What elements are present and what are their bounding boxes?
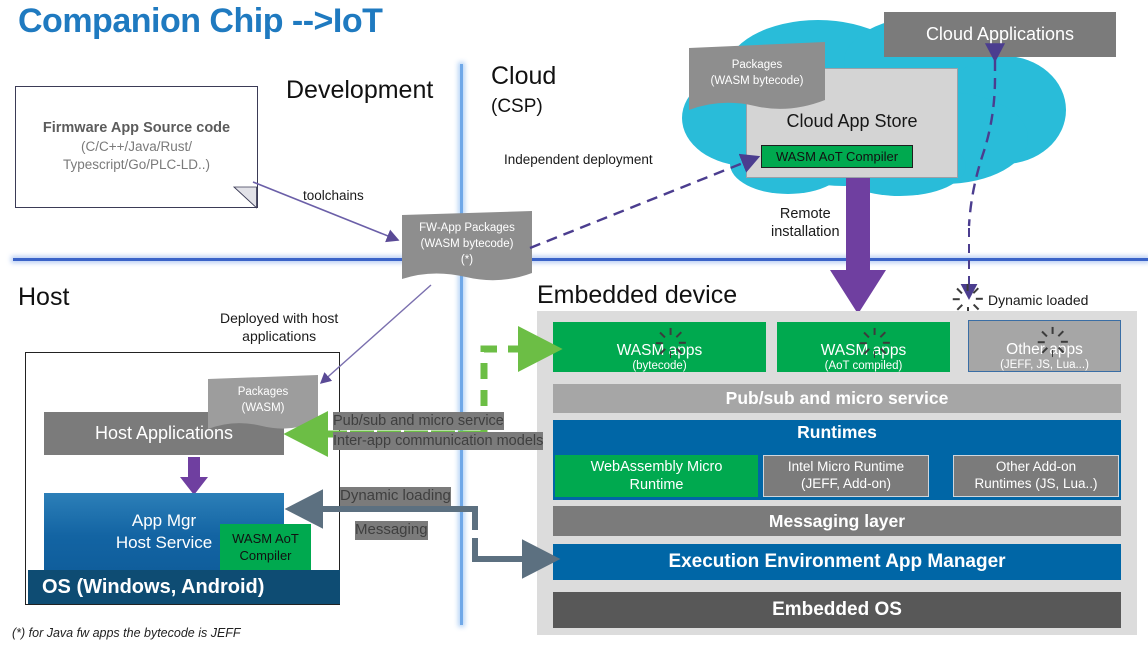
embedded-app-sub-2: (JEFF, JS, Lua...): [1000, 359, 1089, 371]
embedded-os-label: Embedded OS: [772, 599, 902, 621]
label-messaging: Messaging: [355, 521, 428, 540]
embedded-runtime-box-0: WebAssembly Micro Runtime: [555, 455, 758, 497]
embedded-runtime-line2-0: Runtime: [630, 476, 684, 494]
label-dynamic-loaded: Dynamic loaded: [988, 292, 1088, 310]
firmware-source-languages: (C/C++/Java/Rust/ Typescript/Go/PLC-LD..…: [63, 138, 210, 174]
spinner-icon-2: [1042, 332, 1063, 352]
embedded-pubsub-band: Pub/sub and micro service: [553, 384, 1121, 413]
embedded-runtime-line1-1: Intel Micro Runtime: [788, 459, 904, 476]
embedded-runtime-box-2: Other Add-on Runtimes (JS, Lua..): [953, 455, 1119, 497]
arrow-host-apps-to-appmgr: [178, 457, 212, 497]
section-label-host: Host: [18, 283, 69, 312]
fw-app-packages-shape: FW-App Packages (WASM bytecode) (*): [402, 211, 535, 283]
spinner-icon-legend: [958, 289, 978, 309]
firmware-source-callout: Firmware App Source code (C/C++/Java/Rus…: [15, 86, 258, 208]
fw-app-packages-label: FW-App Packages (WASM bytecode) (*): [402, 211, 532, 277]
cloud-packages-label: Packages (WASM bytecode): [689, 42, 825, 104]
host-os-label: OS (Windows, Android): [42, 576, 264, 599]
embedded-runtime-line2-2: Runtimes (JS, Lua..): [974, 476, 1097, 493]
embedded-app-manager-band: Execution Environment App Manager: [553, 544, 1121, 580]
embedded-app-box-2: Other apps (JEFF, JS, Lua...): [968, 320, 1121, 372]
label-dynamic-loading: Dynamic loading: [340, 487, 451, 506]
embedded-os-band: Embedded OS: [553, 592, 1121, 628]
footnote: (*) for Java fw apps the bytecode is JEF…: [12, 626, 241, 640]
label-pubsub-host: Pub/sub and micro service: [333, 412, 504, 430]
section-label-cloud: Cloud: [491, 62, 556, 91]
embedded-runtime-box-1: Intel Micro Runtime (JEFF, Add-on): [763, 455, 929, 497]
label-remote-installation: Remote installation: [771, 205, 840, 241]
arrow-cloud-feedback: [925, 58, 1015, 308]
host-app-mgr-line1: App Mgr: [132, 510, 196, 532]
embedded-runtimes-label: Runtimes: [553, 422, 1121, 443]
arrow-messaging: [470, 533, 580, 573]
host-os-band: OS (Windows, Android): [28, 570, 340, 604]
host-aot-line1: WASM AoT: [232, 531, 299, 548]
cloud-applications-box: Cloud Applications: [884, 12, 1116, 57]
label-toolchains: toolchains: [303, 188, 364, 205]
embedded-runtime-line2-1: (JEFF, Add-on): [801, 476, 891, 493]
cloud-packages-shape: Packages (WASM bytecode): [689, 42, 829, 114]
cloud-applications-label: Cloud Applications: [926, 24, 1074, 45]
spinner-icon-1: [864, 333, 885, 353]
embedded-messaging-label: Messaging layer: [769, 511, 905, 532]
section-label-embedded-device: Embedded device: [537, 281, 737, 310]
embedded-pubsub-label: Pub/sub and micro service: [726, 388, 949, 409]
section-label-cloud-sub: (CSP): [491, 96, 543, 118]
host-app-mgr-line2: Host Service: [116, 532, 212, 554]
embedded-app-sub-1: (AoT compiled): [825, 360, 903, 372]
page-title: Companion Chip -->IoT: [18, 2, 382, 41]
label-interapp-models: Inter-app communication models: [333, 432, 543, 450]
embedded-runtime-line1-2: Other Add-on: [996, 459, 1076, 476]
embedded-app-manager-label: Execution Environment App Manager: [668, 551, 1005, 573]
embedded-app-box-0: WASM apps (bytecode): [553, 322, 766, 372]
embedded-messaging-band: Messaging layer: [553, 506, 1121, 536]
embedded-app-sub-0: (bytecode): [632, 360, 686, 372]
host-aot-line2: Compiler: [239, 548, 291, 565]
embedded-runtime-line1-0: WebAssembly Micro: [591, 458, 723, 476]
arrow-remote-installation: [824, 178, 894, 318]
embedded-app-box-1: WASM apps (AoT compiled): [777, 322, 950, 372]
firmware-source-heading: Firmware App Source code: [43, 120, 230, 136]
spinner-icon-0: [660, 333, 681, 353]
section-label-development: Development: [286, 76, 433, 105]
